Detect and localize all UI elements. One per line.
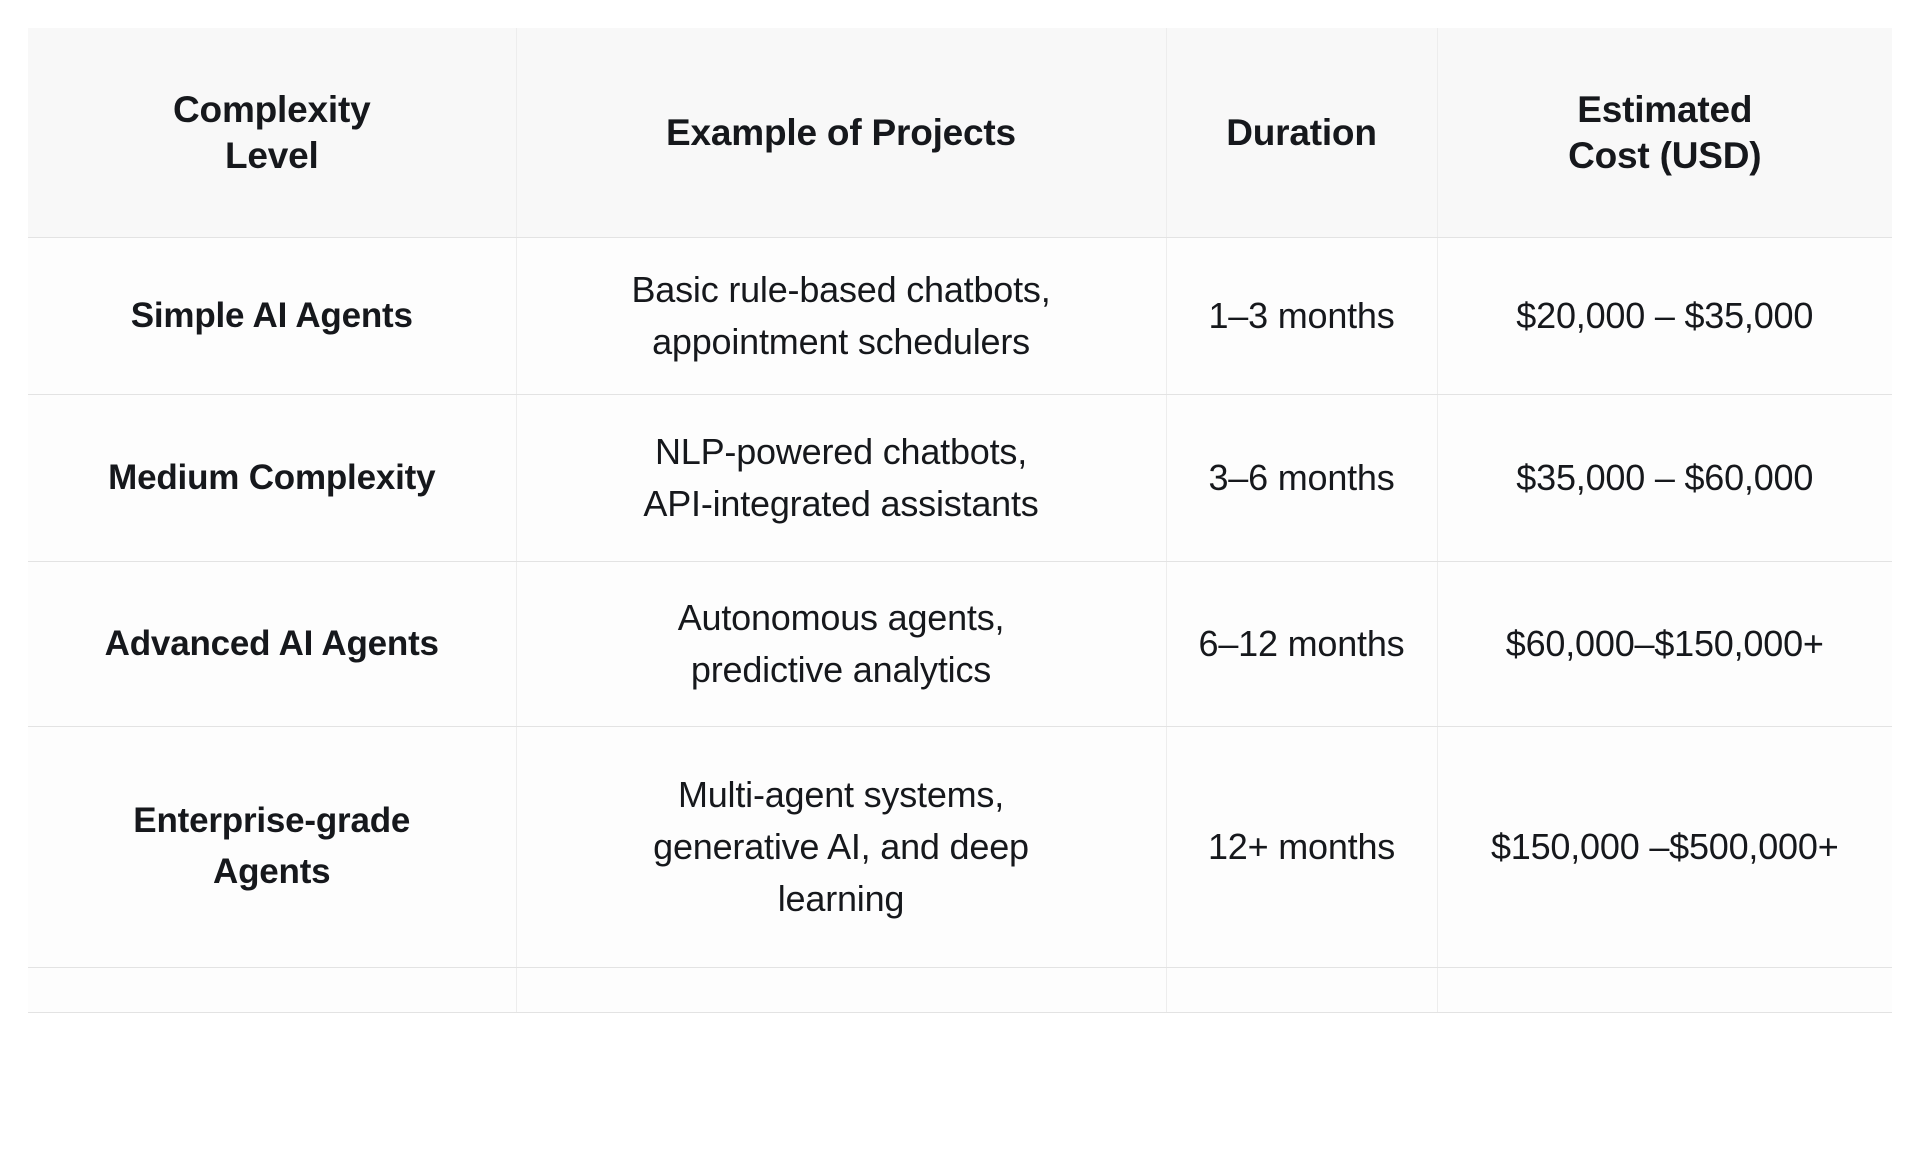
column-header-estimated-cost[interactable]: Estimated Cost (USD) — [1437, 28, 1892, 238]
cell-complexity-level: Simple AI Agents — [28, 238, 516, 395]
ai-agent-cost-table: Complexity Level Example of Projects Dur… — [28, 28, 1892, 1013]
cell-example-of-projects: NLP-powered chatbots, API-integrated ass… — [516, 395, 1166, 562]
cell-duration: 12+ months — [1166, 727, 1437, 968]
column-header-complexity-level-line2: Level — [28, 133, 516, 178]
table-header: Complexity Level Example of Projects Dur… — [28, 28, 1892, 238]
cell-estimated-cost: $60,000–$150,000+ — [1437, 562, 1892, 727]
table-row: Advanced AI Agents Autonomous agents, pr… — [28, 562, 1892, 727]
cell-projects-line2: appointment schedulers — [527, 316, 1156, 368]
cell-complexity-level — [28, 968, 516, 1013]
cell-projects-line2: API-integrated assistants — [527, 478, 1156, 530]
cell-projects-line1: NLP-powered chatbots, — [527, 426, 1156, 478]
table-row-partial — [28, 968, 1892, 1013]
cell-projects-line1: Multi-agent systems, — [527, 769, 1156, 821]
cell-example-of-projects: Basic rule-based chatbots, appointment s… — [516, 238, 1166, 395]
cell-projects-line2: predictive analytics — [527, 644, 1156, 696]
cell-complexity-level: Medium Complexity — [28, 395, 516, 562]
column-header-duration-line1: Duration — [1167, 110, 1437, 155]
cell-complexity-level-line2: Agents — [38, 847, 506, 898]
cell-example-of-projects — [516, 968, 1166, 1013]
cell-complexity-level: Advanced AI Agents — [28, 562, 516, 727]
cell-projects-line3: learning — [527, 873, 1156, 925]
cell-duration: 6–12 months — [1166, 562, 1437, 727]
column-header-estimated-cost-line1: Estimated — [1438, 87, 1893, 132]
table-row: Simple AI Agents Basic rule-based chatbo… — [28, 238, 1892, 395]
column-header-complexity-level[interactable]: Complexity Level — [28, 28, 516, 238]
cell-estimated-cost: $35,000 – $60,000 — [1437, 395, 1892, 562]
cell-estimated-cost — [1437, 968, 1892, 1013]
cell-duration: 1–3 months — [1166, 238, 1437, 395]
column-header-complexity-level-line1: Complexity — [28, 87, 516, 132]
cell-projects-line1: Autonomous agents, — [527, 592, 1156, 644]
cell-estimated-cost: $20,000 – $35,000 — [1437, 238, 1892, 395]
cell-complexity-level: Enterprise-grade Agents — [28, 727, 516, 968]
cell-example-of-projects: Multi-agent systems, generative AI, and … — [516, 727, 1166, 968]
table-page: Complexity Level Example of Projects Dur… — [0, 0, 1920, 1155]
column-header-example-of-projects[interactable]: Example of Projects — [516, 28, 1166, 238]
table-row: Enterprise-grade Agents Multi-agent syst… — [28, 727, 1892, 968]
column-header-example-of-projects-line1: Example of Projects — [517, 110, 1166, 155]
table-header-row: Complexity Level Example of Projects Dur… — [28, 28, 1892, 238]
cell-projects-line1: Basic rule-based chatbots, — [527, 264, 1156, 316]
pricing-table-container: Complexity Level Example of Projects Dur… — [28, 28, 1892, 1013]
cell-duration — [1166, 968, 1437, 1013]
cell-estimated-cost: $150,000 –$500,000+ — [1437, 727, 1892, 968]
column-header-estimated-cost-line2: Cost (USD) — [1438, 133, 1893, 178]
column-header-duration[interactable]: Duration — [1166, 28, 1437, 238]
cell-projects-line2: generative AI, and deep — [527, 821, 1156, 873]
table-body: Simple AI Agents Basic rule-based chatbo… — [28, 238, 1892, 1013]
table-row: Medium Complexity NLP-powered chatbots, … — [28, 395, 1892, 562]
cell-duration: 3–6 months — [1166, 395, 1437, 562]
cell-complexity-level-line1: Enterprise-grade — [38, 796, 506, 847]
cell-example-of-projects: Autonomous agents, predictive analytics — [516, 562, 1166, 727]
